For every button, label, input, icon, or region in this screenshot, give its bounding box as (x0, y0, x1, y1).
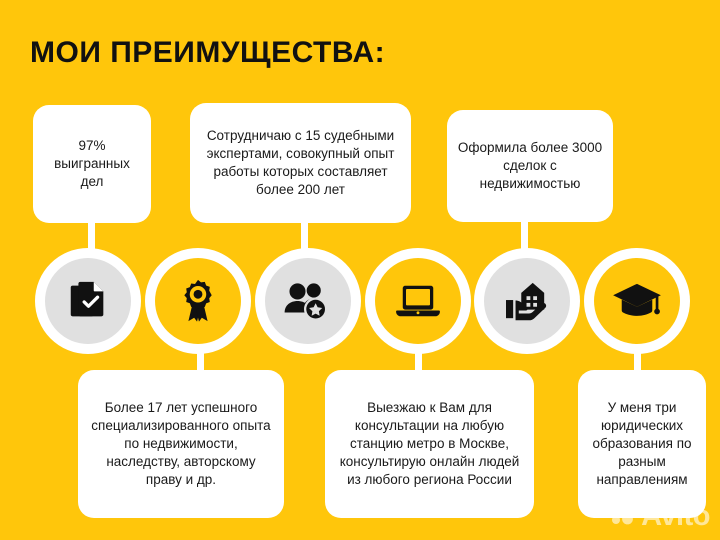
icon-circle-inner (484, 258, 570, 344)
benefit-card-won-cases: 97% выигранных дел (33, 105, 151, 223)
people-star-icon (283, 280, 333, 322)
avito-watermark: Avito (610, 501, 710, 532)
icon-circle-inner (155, 258, 241, 344)
infographic-canvas: МОИ ПРЕИМУЩЕСТВА: 97% выигранных дел Сот… (0, 0, 720, 540)
document-check-icon (65, 278, 111, 324)
benefit-card-education: У меня три юридических образования по ра… (578, 370, 706, 518)
icon-circle-inner (594, 258, 680, 344)
award-rosette-icon (176, 278, 220, 324)
benefit-card-text: Сотрудничаю с 15 судебными экспертами, с… (200, 127, 401, 199)
icon-circle-hand-holding-house (474, 248, 580, 354)
benefit-card-experience: Более 17 лет успешного специализированно… (78, 370, 284, 518)
laptop-icon (394, 281, 442, 321)
benefit-card-text: Выезжаю к Вам для консультации на любую … (335, 399, 524, 489)
icon-circle-people-star (255, 248, 361, 354)
benefit-card-text: У меня три юридических образования по ра… (588, 399, 696, 489)
benefit-card-experts: Сотрудничаю с 15 судебными экспертами, с… (190, 103, 411, 223)
benefit-card-text: Более 17 лет успешного специализированно… (88, 399, 274, 489)
benefit-card-consultation: Выезжаю к Вам для консультации на любую … (325, 370, 534, 518)
icon-circle-inner (375, 258, 461, 344)
benefit-card-text: Оформила более 3000 сделок с недвижимост… (457, 139, 603, 193)
icon-circle-laptop (365, 248, 471, 354)
icon-circle-inner (45, 258, 131, 344)
page-title: МОИ ПРЕИМУЩЕСТВА: (30, 36, 385, 70)
icon-circle-document-check (35, 248, 141, 354)
avito-wordmark: Avito (641, 502, 710, 531)
benefit-card-deals: Оформила более 3000 сделок с недвижимост… (447, 110, 613, 222)
graduation-cap-icon (611, 280, 663, 322)
benefit-card-text: 97% выигранных дел (43, 137, 141, 191)
icon-circle-inner (265, 258, 351, 344)
icon-circle-graduation-cap (584, 248, 690, 354)
avito-logo-icon (610, 501, 636, 532)
hand-holding-house-icon (503, 280, 551, 322)
icon-circle-award-rosette (145, 248, 251, 354)
